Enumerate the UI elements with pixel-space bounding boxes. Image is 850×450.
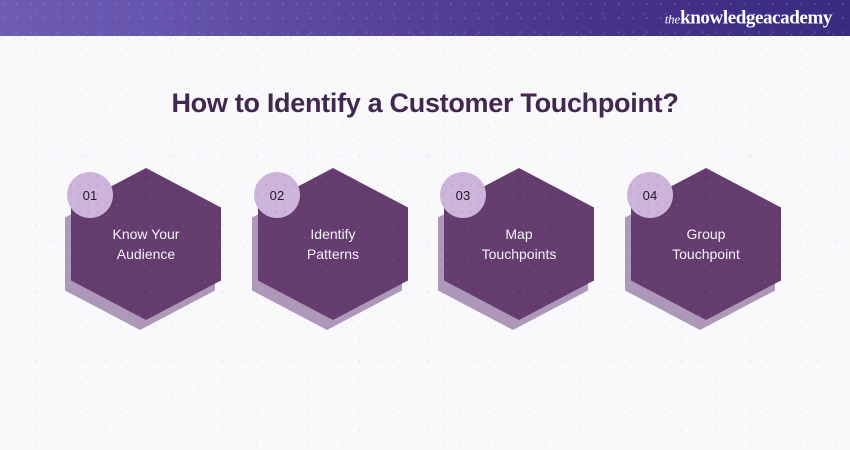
step-label: Group Touchpoint [660, 224, 752, 265]
step-number-badge: 03 [440, 172, 486, 218]
step-card-01[interactable]: Know Your Audience 01 [71, 168, 221, 320]
infographic-page: theknowledgeacademy How to Identify a Cu… [0, 0, 850, 450]
step-label: Identify Patterns [295, 224, 371, 265]
step-number-text: 02 [270, 188, 285, 203]
step-number-text: 04 [643, 188, 658, 203]
logo-the-text: the [665, 12, 680, 27]
steps-row: Know Your Audience 01 Identify Patterns … [0, 168, 850, 328]
step-number-text: 01 [83, 188, 98, 203]
step-number-badge: 01 [67, 172, 113, 218]
brand-header-bar: theknowledgeacademy [0, 0, 850, 36]
step-label: Know Your Audience [101, 224, 192, 265]
step-card-03[interactable]: Map Touchpoints 03 [444, 168, 594, 320]
step-number-badge: 04 [627, 172, 673, 218]
step-card-02[interactable]: Identify Patterns 02 [258, 168, 408, 320]
brand-logo: theknowledgeacademy [665, 9, 832, 28]
step-label: Map Touchpoints [470, 224, 569, 265]
step-number-badge: 02 [254, 172, 300, 218]
step-card-04[interactable]: Group Touchpoint 04 [631, 168, 781, 320]
logo-name-text: knowledgeacademy [680, 8, 832, 29]
page-title: How to Identify a Customer Touchpoint? [0, 88, 850, 119]
step-number-text: 03 [456, 188, 471, 203]
